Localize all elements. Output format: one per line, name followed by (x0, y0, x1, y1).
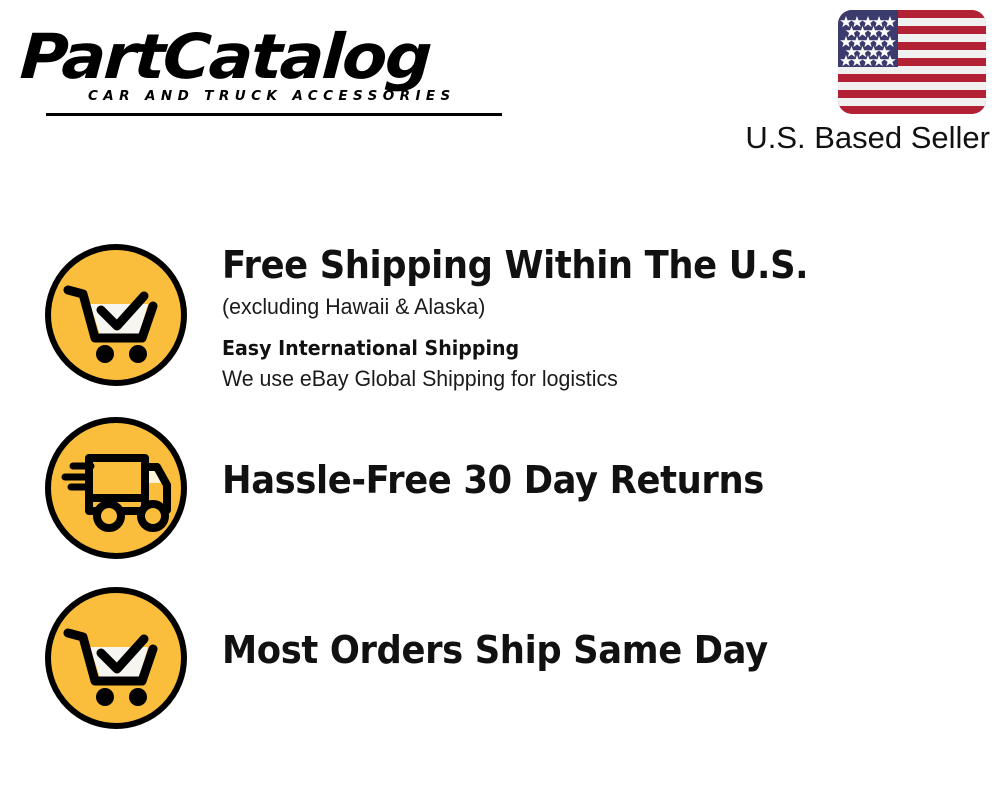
brand-tagline: CAR AND TRUCK ACCESSORIES (88, 88, 456, 104)
feature-title: Most Orders Ship Same Day (222, 627, 910, 673)
feature-text-block: Hassle-Free 30 Day Returns (222, 457, 962, 503)
header-bar: PartCatalog CAR AND TRUCK ACCESSORIES (0, 0, 1000, 175)
feature-title: Hassle-Free 30 Day Returns (222, 457, 910, 503)
brand-wordmark: PartCatalog (19, 26, 521, 88)
feature-subtitle-strong: Easy International Shipping (222, 334, 925, 362)
brand-logo[interactable]: PartCatalog CAR AND TRUCK ACCESSORIES (22, 26, 492, 118)
feature-subtitle-light: We use eBay Global Shipping for logistic… (222, 364, 940, 394)
cart-check-icon (43, 585, 189, 731)
feature-title: Free Shipping Within The U.S. (222, 242, 910, 288)
feature-row: Most Orders Ship Same Day (0, 585, 1000, 757)
brand-underline-rule (46, 113, 502, 116)
feature-subtitle: (excluding Hawaii & Alaska) (222, 292, 940, 322)
us-flag-icon (838, 10, 986, 114)
feature-row: Hassle-Free 30 Day Returns (0, 415, 1000, 587)
cart-check-icon (43, 242, 189, 388)
us-based-seller-label: U.S. Based Seller (745, 119, 990, 157)
feature-row: Free Shipping Within The U.S. (excluding… (0, 242, 1000, 414)
delivery-truck-icon (43, 415, 189, 561)
feature-text-block: Free Shipping Within The U.S. (excluding… (222, 242, 962, 394)
feature-text-block: Most Orders Ship Same Day (222, 627, 962, 673)
